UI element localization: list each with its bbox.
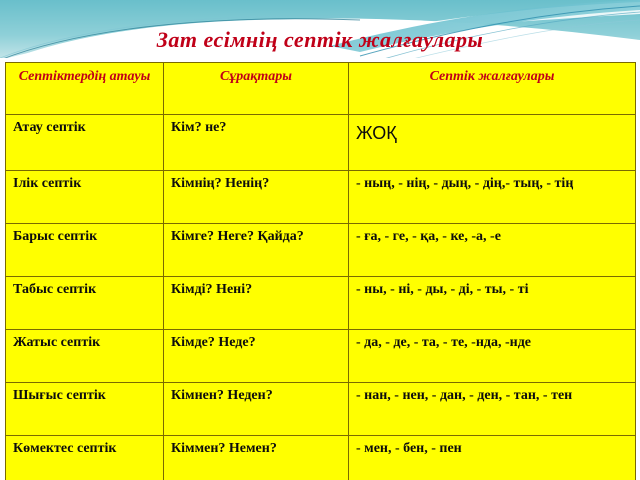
cell-ending: - ның, - нің, - дың, - дің,- тың, - тің — [349, 171, 636, 224]
cell-ending: - мен, - бен, - пен — [349, 436, 636, 480]
table-row: Барыс септік Кімге? Неге? Қайда? - ға, -… — [6, 224, 636, 277]
cell-case-name: Көмектес септік — [6, 436, 164, 480]
case-endings-table-wrapper: Септіктердің атауы Сұрақтары Септік жалғ… — [5, 62, 635, 480]
table-row: Табыс септік Кімді? Нені? - ны, - ні, - … — [6, 277, 636, 330]
case-endings-table: Септіктердің атауы Сұрақтары Септік жалғ… — [5, 62, 636, 480]
page-title: Зат есімнің септік жалғаулары — [0, 27, 640, 53]
cell-ending: - да, - де, - та, - те, -нда, -нде — [349, 330, 636, 383]
table-row: Жатыс септік Кімде? Неде? - да, - де, - … — [6, 330, 636, 383]
cell-ending: - нан, - нен, - дан, - ден, - тан, - тен — [349, 383, 636, 436]
table-body: Атау септік Кім? не? ЖОҚ Ілік септік Кім… — [6, 115, 636, 480]
cell-question: Кімнің? Ненің? — [164, 171, 349, 224]
column-header-questions: Сұрақтары — [164, 63, 349, 115]
cell-question: Кіммен? Немен? — [164, 436, 349, 480]
cell-question: Кімге? Неге? Қайда? — [164, 224, 349, 277]
cell-case-name: Ілік септік — [6, 171, 164, 224]
slide-canvas: Зат есімнің септік жалғаулары Септіктерд… — [0, 0, 640, 480]
cell-case-name: Шығыс септік — [6, 383, 164, 436]
cell-question: Кім? не? — [164, 115, 349, 171]
cell-question: Кімді? Нені? — [164, 277, 349, 330]
cell-case-name: Табыс септік — [6, 277, 164, 330]
table-row: Атау септік Кім? не? ЖОҚ — [6, 115, 636, 171]
cell-ending: - ны, - ні, - ды, - ді, - ты, - ті — [349, 277, 636, 330]
column-header-endings: Септік жалғаулары — [349, 63, 636, 115]
cell-case-name: Атау септік — [6, 115, 164, 171]
cell-case-name: Жатыс септік — [6, 330, 164, 383]
cell-question: Кімнен? Неден? — [164, 383, 349, 436]
table-row: Ілік септік Кімнің? Ненің? - ның, - нің,… — [6, 171, 636, 224]
cell-ending: ЖОҚ — [349, 115, 636, 171]
column-header-case-name: Септіктердің атауы — [6, 63, 164, 115]
table-row: Көмектес септік Кіммен? Немен? - мен, - … — [6, 436, 636, 480]
table-header-row: Септіктердің атауы Сұрақтары Септік жалғ… — [6, 63, 636, 115]
cell-case-name: Барыс септік — [6, 224, 164, 277]
cell-question: Кімде? Неде? — [164, 330, 349, 383]
table-row: Шығыс септік Кімнен? Неден? - нан, - нен… — [6, 383, 636, 436]
cell-ending: - ға, - ге, - қа, - ке, -а, -е — [349, 224, 636, 277]
